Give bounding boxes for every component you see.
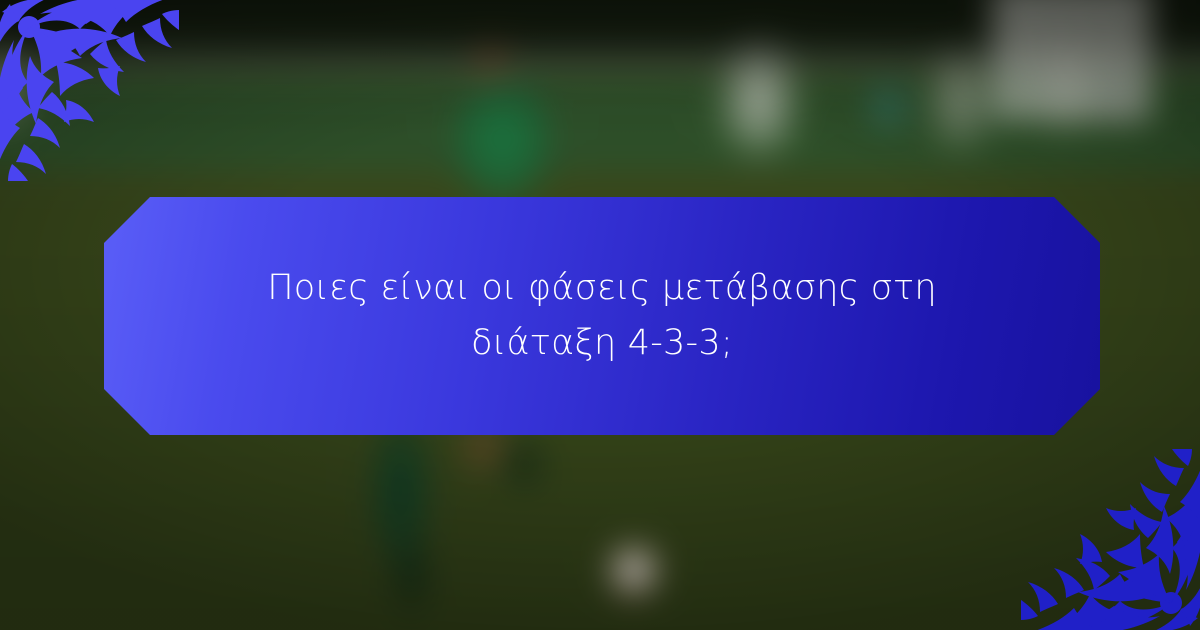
corner-ornament-bottom-right [1021,449,1200,630]
question-banner: Ποιες είναι οι φάσεις μετάβασης στη διάτ… [104,197,1100,435]
question-text: Ποιες είναι οι φάσεις μετάβασης στη διάτ… [202,261,1002,372]
question-card-canvas: Ποιες είναι οι φάσεις μετάβασης στη διάτ… [0,0,1200,630]
corner-ornament-top-left [0,0,179,181]
